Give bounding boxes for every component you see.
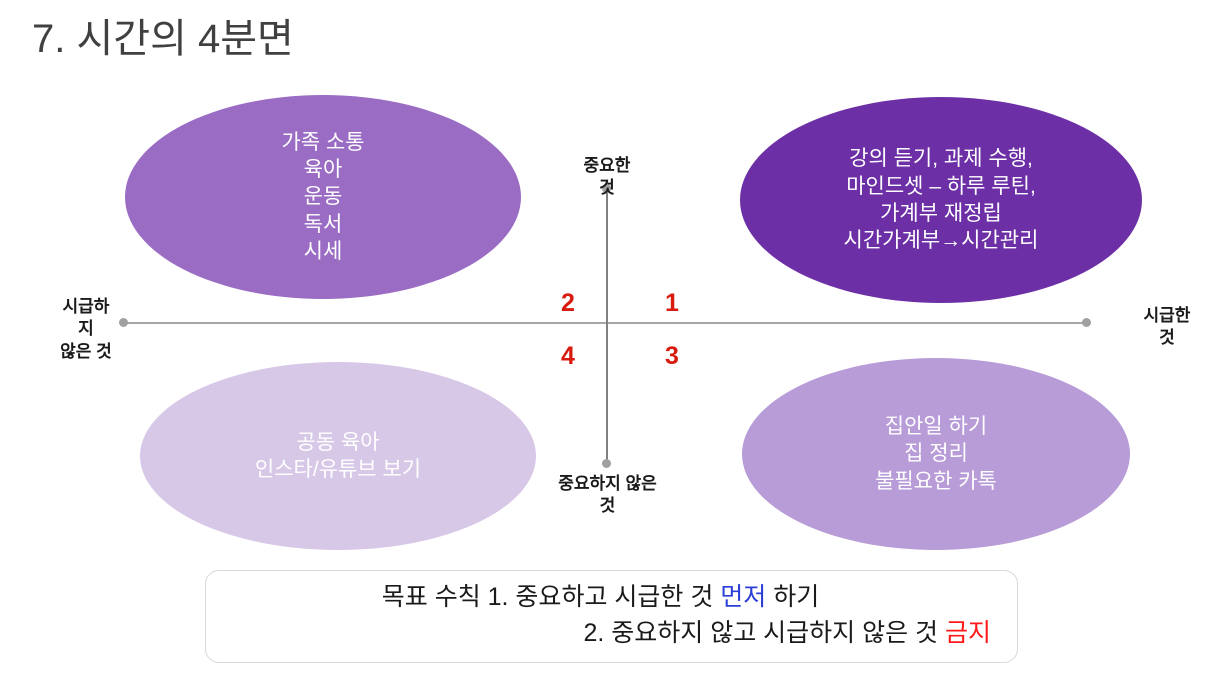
goal-rule-2-prefix: 2. 중요하지 않고 시급하지 않은 것 xyxy=(583,619,945,647)
quadrant-4-ellipse: 공동 육아 인스타/유튜브 보기 xyxy=(140,362,536,550)
axis-endpoint-dot-right-icon xyxy=(1082,318,1091,327)
quadrant-2-text: 가족 소통 육아 운동 독서 시세 xyxy=(263,129,382,265)
goal-rules-box: 목표 수칙 1. 중요하고 시급한 것 먼저 하기 2. 중요하지 않고 시급하… xyxy=(205,570,1018,663)
quadrant-1-text: 강의 듣기, 과제 수행, 마인드셋 – 하루 루틴, 가계부 재정립 시간가계… xyxy=(826,145,1057,254)
quadrant-4-text: 공동 육아 인스타/유튜브 보기 xyxy=(237,429,439,484)
quadrant-2-ellipse: 가족 소통 육아 운동 독서 시세 xyxy=(125,95,521,299)
quadrant-number-1: 1 xyxy=(655,291,689,316)
axis-label-not-urgent: 시급하 지 않은 것 xyxy=(40,296,132,363)
quadrant-3-ellipse: 집안일 하기 집 정리 불필요한 카톡 xyxy=(742,358,1130,550)
axis-label-important: 중요한 것 xyxy=(548,155,666,200)
axis-label-urgent: 시급한 것 xyxy=(1122,305,1212,350)
quadrant-number-3: 3 xyxy=(655,344,689,369)
goal-rule-1-prefix: 목표 수칙 1. 중요하고 시급한 것 xyxy=(382,583,721,611)
quadrant-1-ellipse: 강의 듣기, 과제 수행, 마인드셋 – 하루 루틴, 가계부 재정립 시간가계… xyxy=(740,97,1142,303)
goal-rule-line-1: 목표 수칙 1. 중요하고 시급한 것 먼저 하기 xyxy=(228,579,995,615)
axis-endpoint-dot-bottom-icon xyxy=(602,459,611,468)
page-title: 7. 시간의 4분면 xyxy=(32,14,294,64)
quadrant-number-2: 2 xyxy=(551,291,585,316)
goal-rule-line-2: 2. 중요하지 않고 시급하지 않은 것 금지 xyxy=(228,615,995,651)
goal-rule-1-suffix: 하기 xyxy=(766,583,819,611)
axis-label-not-important: 중요하지 않은 것 xyxy=(515,473,700,518)
goal-rule-1-highlight: 먼저 xyxy=(720,583,766,611)
goal-rule-2-highlight: 금지 xyxy=(945,619,991,647)
quadrant-3-text: 집안일 하기 집 정리 불필요한 카톡 xyxy=(857,413,1015,495)
quadrant-number-4: 4 xyxy=(551,344,585,369)
vertical-axis-line xyxy=(606,188,608,464)
horizontal-axis-line xyxy=(124,322,1086,324)
slide-canvas: 7. 시간의 4분면 시급하 지 않은 것 시급한 것 중요한 것 중요하지 않… xyxy=(0,0,1216,684)
